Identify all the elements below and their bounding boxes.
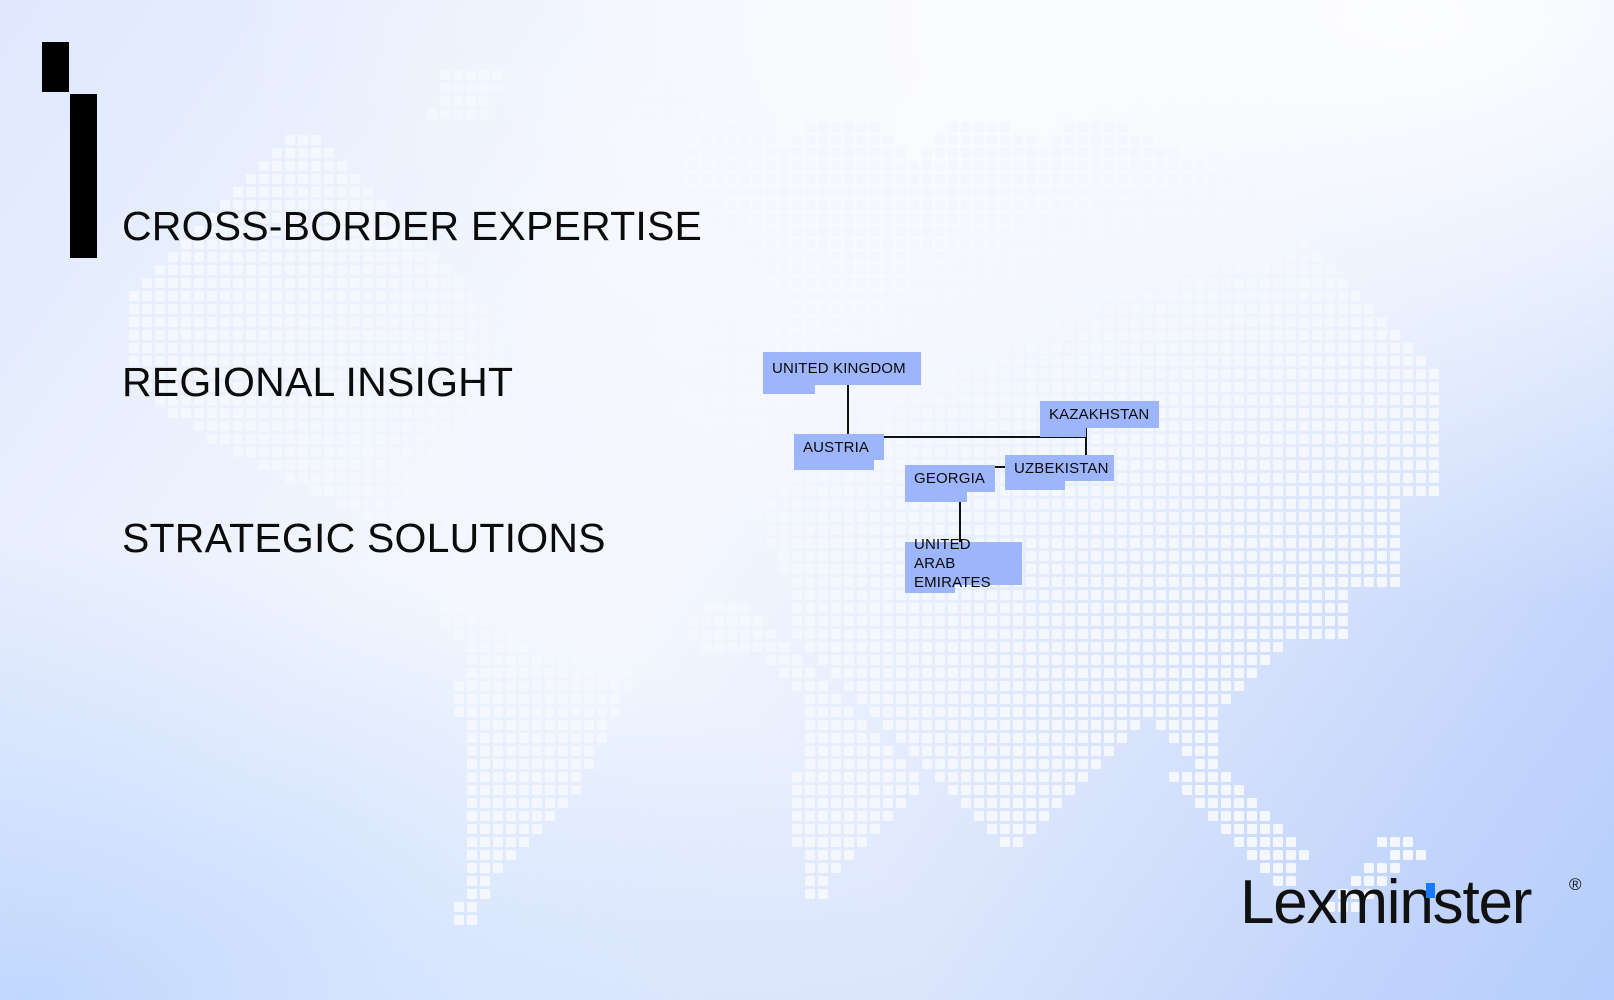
country-callout[interactable]: GEORGIA [905,465,995,502]
i-mark-logo [42,42,104,258]
callout-tail [1005,481,1065,490]
callout-label: UZBEKISTAN [1005,455,1114,481]
brand-logo: Lexminster ® [1240,872,1531,934]
i-mark-stem [70,94,97,258]
country-callout[interactable]: KAZAKHSTAN [1040,401,1159,437]
callout-label: KAZAKHSTAN [1040,401,1159,428]
country-callout[interactable]: UNITED KINGDOM [763,352,921,394]
callout-tail [905,492,967,502]
country-callout[interactable]: UZBEKISTAN [1005,455,1114,490]
headline-line-1: CROSS-BORDER EXPERTISE [122,200,702,252]
slide-canvas: CROSS-BORDER EXPERTISE REGIONAL INSIGHT … [0,0,1614,1000]
country-callout[interactable]: AUSTRIA [794,434,884,470]
headline-line-3: STRATEGIC SOLUTIONS [122,512,702,564]
callout-label: UNITED KINGDOM [763,352,921,385]
callout-label: UNITED ARAB EMIRATES [905,542,1022,585]
brand-wordmark: Lexminster [1240,868,1531,937]
headline-line-2: REGIONAL INSIGHT [122,356,702,408]
brand-accent-dot-icon [1426,883,1435,898]
registered-trademark-icon: ® [1569,876,1582,893]
i-mark-dot [42,42,69,92]
callout-label: GEORGIA [905,465,995,492]
callout-tail [1040,428,1086,437]
callout-tail [794,460,874,470]
country-callout[interactable]: UNITED ARAB EMIRATES [905,542,1022,593]
page-title: CROSS-BORDER EXPERTISE REGIONAL INSIGHT … [122,96,702,668]
callout-label: AUSTRIA [794,434,884,460]
callout-tail [763,385,815,394]
